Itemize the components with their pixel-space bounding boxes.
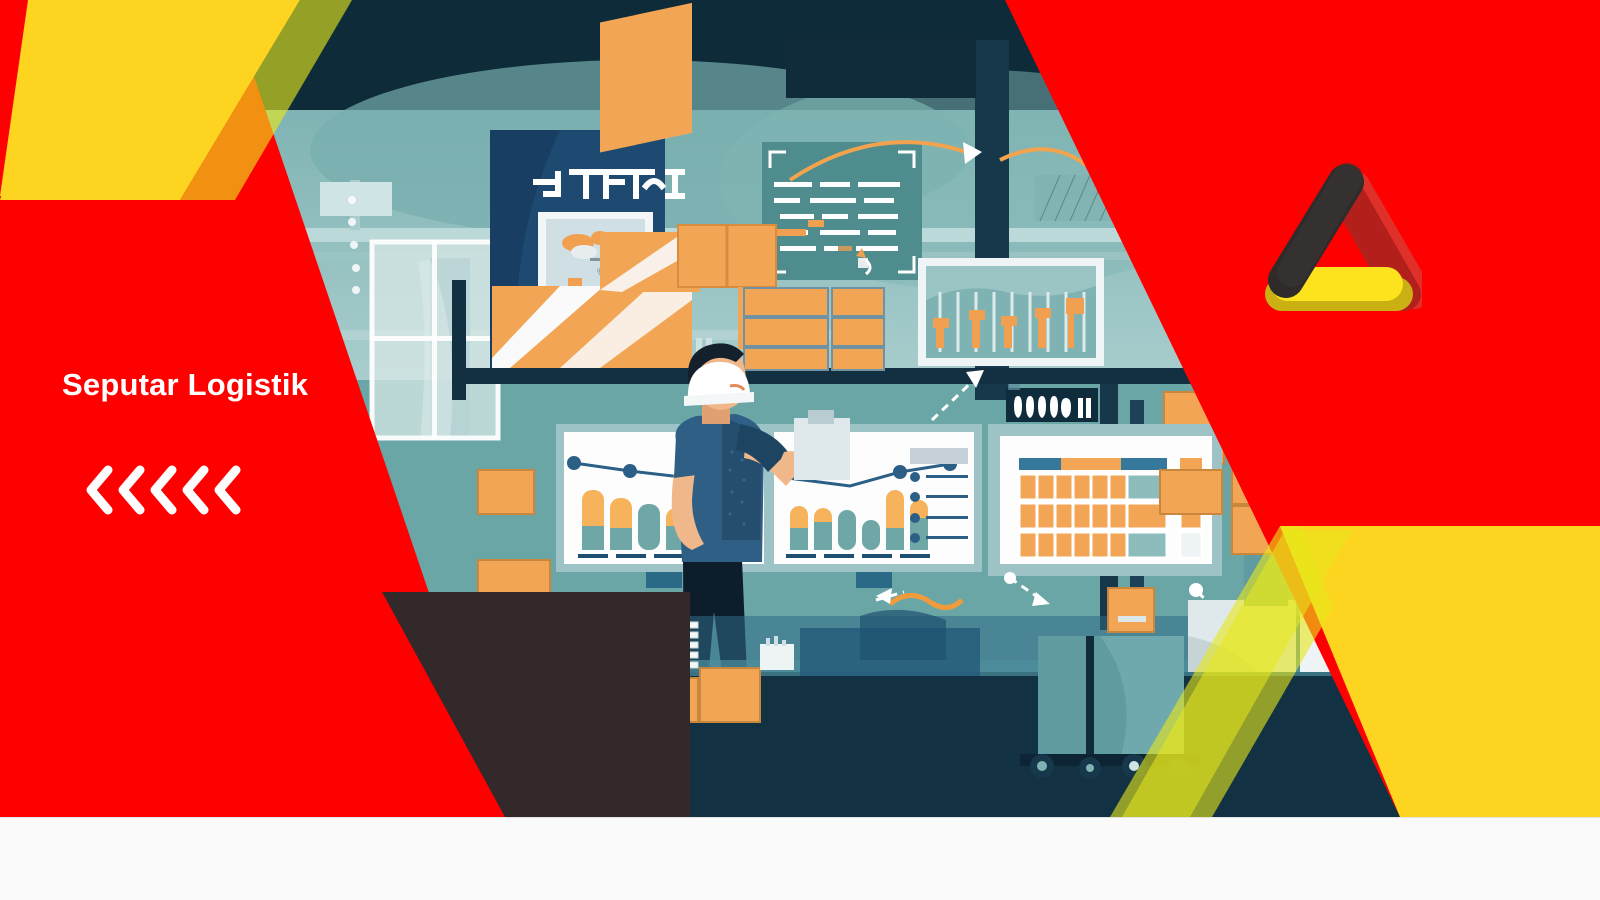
chevron-left-icon (116, 464, 146, 516)
chevron-group (84, 464, 492, 516)
chevron-left-icon (212, 464, 242, 516)
banner-text-block: Seputar Logistik (62, 368, 492, 516)
page-below-banner (0, 817, 1600, 900)
chevron-left-icon (84, 464, 114, 516)
chevron-left-icon (148, 464, 178, 516)
hero-banner: % (0, 0, 1600, 817)
triangle-logo[interactable] (1236, 152, 1422, 317)
screenshot-root: % (0, 0, 1600, 900)
chevron-left-icon (180, 464, 210, 516)
page-title: Seputar Logistik (62, 368, 492, 402)
